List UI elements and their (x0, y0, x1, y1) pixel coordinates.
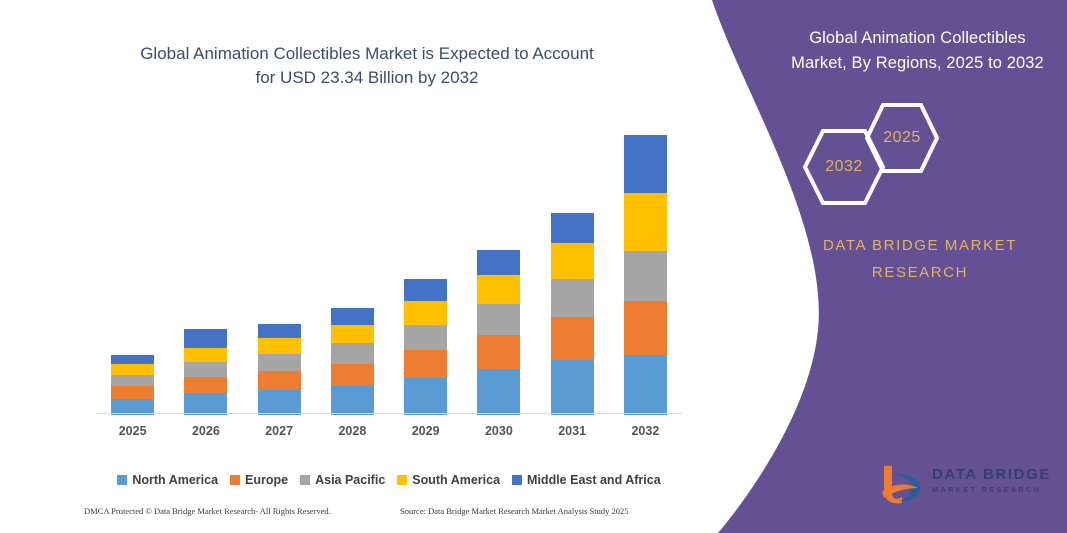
logo-b-mark-icon (880, 464, 924, 504)
bar-segment-middle-east-and-africa (404, 279, 447, 301)
bar-2032 (624, 135, 667, 415)
legend-swatch-icon (117, 475, 127, 485)
bar-2026 (184, 329, 227, 415)
brand-name-line-1: DATA BRIDGE MARKET (775, 232, 1065, 259)
bar-segment-south-america (184, 348, 227, 362)
logo-wordmark-line-1: DATA BRIDGE (932, 466, 1052, 483)
bar-2031 (551, 213, 594, 415)
bar-2027 (258, 324, 301, 415)
bar-segment-middle-east-and-africa (331, 308, 374, 325)
bar-segment-asia-pacific (258, 354, 301, 371)
bar-segment-north-america (404, 378, 447, 415)
legend-item-asia-pacific[interactable]: Asia Pacific (300, 473, 385, 487)
bar-segment-europe (258, 371, 301, 390)
footer-source: Source: Data Bridge Market Research Mark… (400, 506, 629, 516)
logo-wordmark-line-2: MARKET RESEARCH (932, 483, 1052, 496)
bar-2025 (111, 355, 154, 415)
bar-segment-asia-pacific (184, 362, 227, 377)
chart-title-line-2: for USD 23.34 Billion by 2032 (72, 66, 662, 90)
bar-segment-europe (477, 335, 520, 369)
bar-segment-asia-pacific (331, 343, 374, 363)
data-bridge-logo: DATA BRIDGE MARKET RESEARCH (880, 462, 1050, 508)
bar-segment-north-america (624, 355, 667, 416)
hexagon-badge-start-year: 2025 (864, 102, 940, 174)
bar-segment-north-america (184, 393, 227, 415)
bar-segment-asia-pacific (551, 279, 594, 317)
brand-name-line-2: RESEARCH (775, 259, 1065, 286)
legend-swatch-icon (512, 475, 522, 485)
x-axis-line (96, 413, 682, 414)
stacked-bar-chart-plot (96, 120, 682, 415)
bar-segment-north-america (551, 360, 594, 415)
x-axis-tick-labels: 20252026202720282029203020312032 (96, 420, 682, 442)
x-axis-label-2029: 2029 (391, 424, 461, 438)
bar-segment-europe (184, 377, 227, 393)
bar-segment-middle-east-and-africa (477, 250, 520, 276)
x-axis-label-2032: 2032 (610, 424, 680, 438)
bar-segment-asia-pacific (477, 304, 520, 335)
bar-segment-middle-east-and-africa (624, 135, 667, 193)
bar-segment-middle-east-and-africa (184, 329, 227, 348)
hexagon-start-year-label: 2025 (864, 102, 940, 174)
legend-swatch-icon (300, 475, 310, 485)
bar-segment-south-america (404, 301, 447, 324)
hexagon-year-badges: 2032 2025 (780, 100, 1060, 210)
bar-2030 (477, 250, 520, 415)
legend-label: Europe (245, 473, 288, 487)
legend-swatch-icon (230, 475, 240, 485)
panel-title-line-2: Market, By Regions, 2025 to 2032 (775, 51, 1060, 76)
bar-segment-middle-east-and-africa (258, 324, 301, 338)
legend-item-south-america[interactable]: South America (397, 473, 500, 487)
legend-label: Middle East and Africa (527, 473, 661, 487)
legend-label: Asia Pacific (315, 473, 385, 487)
x-axis-label-2030: 2030 (464, 424, 534, 438)
bar-segment-europe (111, 386, 154, 399)
bar-segment-asia-pacific (624, 251, 667, 301)
chart-legend: North AmericaEuropeAsia PacificSouth Ame… (96, 470, 682, 490)
bar-segment-asia-pacific (404, 325, 447, 350)
panel-title-line-1: Global Animation Collectibles (775, 26, 1060, 51)
bar-segment-north-america (331, 386, 374, 415)
bar-segment-north-america (258, 390, 301, 415)
x-axis-label-2026: 2026 (171, 424, 241, 438)
bar-segment-north-america (477, 369, 520, 415)
bar-segment-south-america (331, 325, 374, 344)
bar-segment-middle-east-and-africa (111, 355, 154, 364)
x-axis-label-2031: 2031 (537, 424, 607, 438)
footer-copyright: DMCA Protected © Data Bridge Market Rese… (84, 506, 331, 516)
bar-segment-middle-east-and-africa (551, 213, 594, 243)
x-axis-label-2025: 2025 (98, 424, 168, 438)
bar-segment-asia-pacific (111, 375, 154, 386)
x-axis-label-2028: 2028 (317, 424, 387, 438)
bar-segment-south-america (258, 338, 301, 354)
logo-glyph-icon (880, 464, 924, 504)
legend-item-north-america[interactable]: North America (117, 473, 218, 487)
brand-name: DATA BRIDGE MARKET RESEARCH (775, 232, 1065, 286)
bar-segment-south-america (477, 275, 520, 304)
bar-segment-south-america (624, 193, 667, 251)
chart-title: Global Animation Collectibles Market is … (72, 42, 662, 90)
bar-segment-europe (404, 350, 447, 378)
legend-swatch-icon (397, 475, 407, 485)
footer: DMCA Protected © Data Bridge Market Rese… (0, 506, 690, 526)
bar-segment-europe (551, 317, 594, 360)
brand-panel: Global Animation Collectibles Market, By… (690, 0, 1067, 533)
legend-item-middle-east-and-africa[interactable]: Middle East and Africa (512, 473, 661, 487)
chart-title-line-1: Global Animation Collectibles Market is … (72, 42, 662, 66)
bar-segment-europe (624, 301, 667, 354)
bar-segment-south-america (111, 364, 154, 375)
x-axis-label-2027: 2027 (244, 424, 314, 438)
bar-segment-europe (331, 364, 374, 386)
legend-label: North America (132, 473, 218, 487)
logo-wordmark: DATA BRIDGE MARKET RESEARCH (932, 466, 1052, 496)
legend-label: South America (412, 473, 500, 487)
bar-2028 (331, 308, 374, 415)
bar-segment-south-america (551, 243, 594, 279)
legend-item-europe[interactable]: Europe (230, 473, 288, 487)
infographic-canvas: Global Animation Collectibles Market is … (0, 0, 1067, 533)
bar-2029 (404, 279, 447, 415)
panel-title: Global Animation Collectibles Market, By… (775, 26, 1060, 76)
